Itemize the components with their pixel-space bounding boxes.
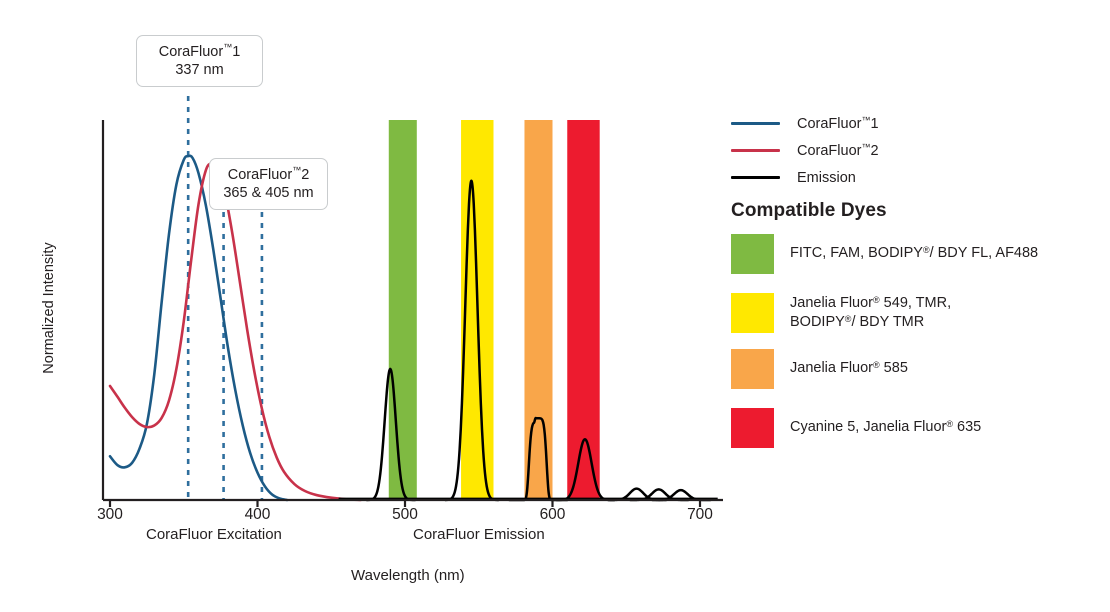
registered-icon: ® — [923, 245, 930, 255]
y-axis-label: Normalized Intensity — [41, 228, 57, 388]
callout-2-suffix: 2 — [301, 167, 309, 183]
curve-CoraFluor2 — [110, 164, 361, 500]
dye-color-swatch — [731, 293, 774, 333]
callout-1-value: 337 nm — [147, 62, 252, 80]
dye-label-line: Cyanine 5, Janelia Fluor® 635 — [790, 418, 981, 437]
callout-2-title: CoraFluor™2 — [220, 165, 317, 185]
compatible-dyes-list: FITC, FAM, BODIPY®/ BDY FL, AF488Janelia… — [731, 234, 1106, 467]
callout-1-title: CoraFluor™1 — [147, 42, 252, 62]
excitation-section-label: CoraFluor Excitation — [146, 526, 282, 543]
dye-item: Cyanine 5, Janelia Fluor® 635 — [731, 408, 1106, 448]
registered-icon: ® — [873, 295, 880, 305]
legend-item-label: Emission — [797, 170, 856, 186]
dye-label-line: BODIPY®/ BDY TMR — [790, 313, 951, 332]
dye-label-line: Janelia Fluor® 549, TMR, — [790, 294, 951, 313]
x-tick-label-600: 600 — [540, 506, 566, 524]
dye-label-line: Janelia Fluor® 585 — [790, 359, 908, 378]
series-legend: CoraFluor™1CoraFluor™2Emission — [731, 110, 1101, 191]
callout-corafluor-1: CoraFluor™1 337 nm — [136, 35, 263, 87]
callout-corafluor-2: CoraFluor™2 365 & 405 nm — [209, 158, 328, 210]
dye-label: Cyanine 5, Janelia Fluor® 635 — [790, 418, 981, 437]
dye-label-line: FITC, FAM, BODIPY®/ BDY FL, AF488 — [790, 244, 1038, 263]
band-green — [389, 120, 417, 500]
trademark-icon: ™ — [223, 42, 232, 52]
x-tick-label-700: 700 — [687, 506, 713, 524]
legend-item-CoraFluor2: CoraFluor™2 — [731, 137, 1101, 164]
legend-series-name: CoraFluor — [797, 116, 861, 132]
chart-figure: CoraFluor™1 337 nm CoraFluor™2 365 & 405… — [0, 0, 1110, 612]
callout-2-value: 365 & 405 nm — [220, 185, 317, 203]
excitation-marker-lines — [188, 96, 262, 500]
registered-icon: ® — [946, 419, 953, 429]
registered-icon: ® — [845, 314, 852, 324]
dye-item: FITC, FAM, BODIPY®/ BDY FL, AF488 — [731, 234, 1106, 274]
emission-section-label: CoraFluor Emission — [413, 526, 545, 543]
band-orange — [524, 120, 552, 500]
legend-item-Emission: Emission — [731, 164, 1101, 191]
x-tick-label-500: 500 — [392, 506, 418, 524]
compatible-dyes-heading: Compatible Dyes — [731, 200, 887, 222]
legend-item-label: CoraFluor™2 — [797, 142, 879, 159]
dye-item: Janelia Fluor® 585 — [731, 349, 1106, 389]
x-tick-label-300: 300 — [97, 506, 123, 524]
wavelength-bands — [389, 120, 600, 500]
dye-label: Janelia Fluor® 585 — [790, 359, 908, 378]
legend-line-swatch — [731, 122, 780, 125]
legend-series-suffix: 1 — [870, 116, 878, 132]
x-axis-label: Wavelength (nm) — [351, 567, 465, 584]
callout-1-name: CoraFluor — [159, 44, 223, 60]
registered-icon: ® — [873, 360, 880, 370]
legend-line-swatch — [731, 176, 780, 179]
dye-color-swatch — [731, 408, 774, 448]
legend-series-name: Emission — [797, 170, 856, 186]
legend-item-CoraFluor1: CoraFluor™1 — [731, 110, 1101, 137]
legend-series-suffix: 2 — [870, 143, 878, 159]
trademark-icon: ™ — [292, 165, 301, 175]
dye-color-swatch — [731, 349, 774, 389]
legend-series-name: CoraFluor — [797, 143, 861, 159]
dye-item: Janelia Fluor® 549, TMR,BODIPY®/ BDY TMR — [731, 293, 1106, 333]
callout-2-name: CoraFluor — [228, 167, 292, 183]
legend-item-label: CoraFluor™1 — [797, 115, 879, 132]
callout-1-suffix: 1 — [232, 44, 240, 60]
dye-label: Janelia Fluor® 549, TMR,BODIPY®/ BDY TMR — [790, 294, 951, 332]
x-tick-label-400: 400 — [245, 506, 271, 524]
dye-label: FITC, FAM, BODIPY®/ BDY FL, AF488 — [790, 244, 1038, 263]
dye-color-swatch — [731, 234, 774, 274]
legend-line-swatch — [731, 149, 780, 152]
